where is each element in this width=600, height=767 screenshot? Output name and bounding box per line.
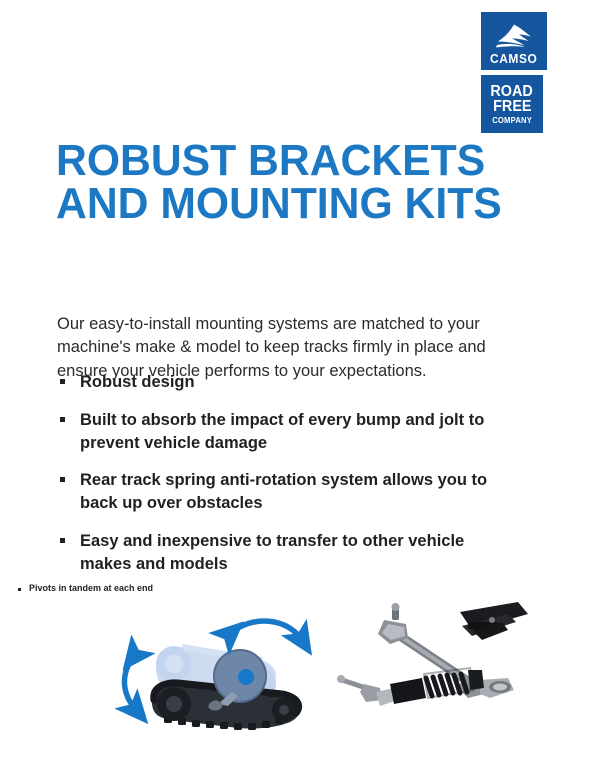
camso-logo: CAMSO <box>481 12 547 70</box>
rubber-track-system-pivot-diagram <box>112 600 332 732</box>
footnote-pivots: Pivots in tandem at each end <box>18 583 153 593</box>
list-item: Rear track spring anti-rotation system a… <box>58 469 518 515</box>
camso-wordmark: CAMSO <box>490 52 537 65</box>
page-title: ROBUST BRACKETS AND MOUNTING KITS <box>56 139 502 225</box>
page-title-line-2: AND MOUNTING KITS <box>56 182 502 225</box>
pivot-arc-arrow-left <box>124 656 136 710</box>
road-free-line-3: COMPANY <box>492 116 532 124</box>
road-free-line-1: ROAD <box>491 84 533 99</box>
list-item: Easy and inexpensive to transfer to othe… <box>58 530 518 576</box>
mounting-bracket-hardware-photo <box>332 596 532 724</box>
camso-mountain-icon <box>494 23 534 49</box>
list-item: Robust design <box>58 371 518 394</box>
brand-logo-stack: CAMSO ROAD FREE COMPANY <box>481 12 547 133</box>
page-title-line-1: ROBUST BRACKETS <box>56 139 502 182</box>
road-free-line-2: FREE <box>493 99 531 114</box>
pivot-arc-arrow-top <box>230 621 302 640</box>
list-item: Built to absorb the impact of every bump… <box>58 409 518 455</box>
feature-bullet-list: Robust design Built to absorb the impact… <box>58 371 518 590</box>
mounting-bracket-rail <box>460 602 528 640</box>
illustration-row <box>0 596 600 736</box>
road-free-company-logo: ROAD FREE COMPANY <box>481 75 543 133</box>
